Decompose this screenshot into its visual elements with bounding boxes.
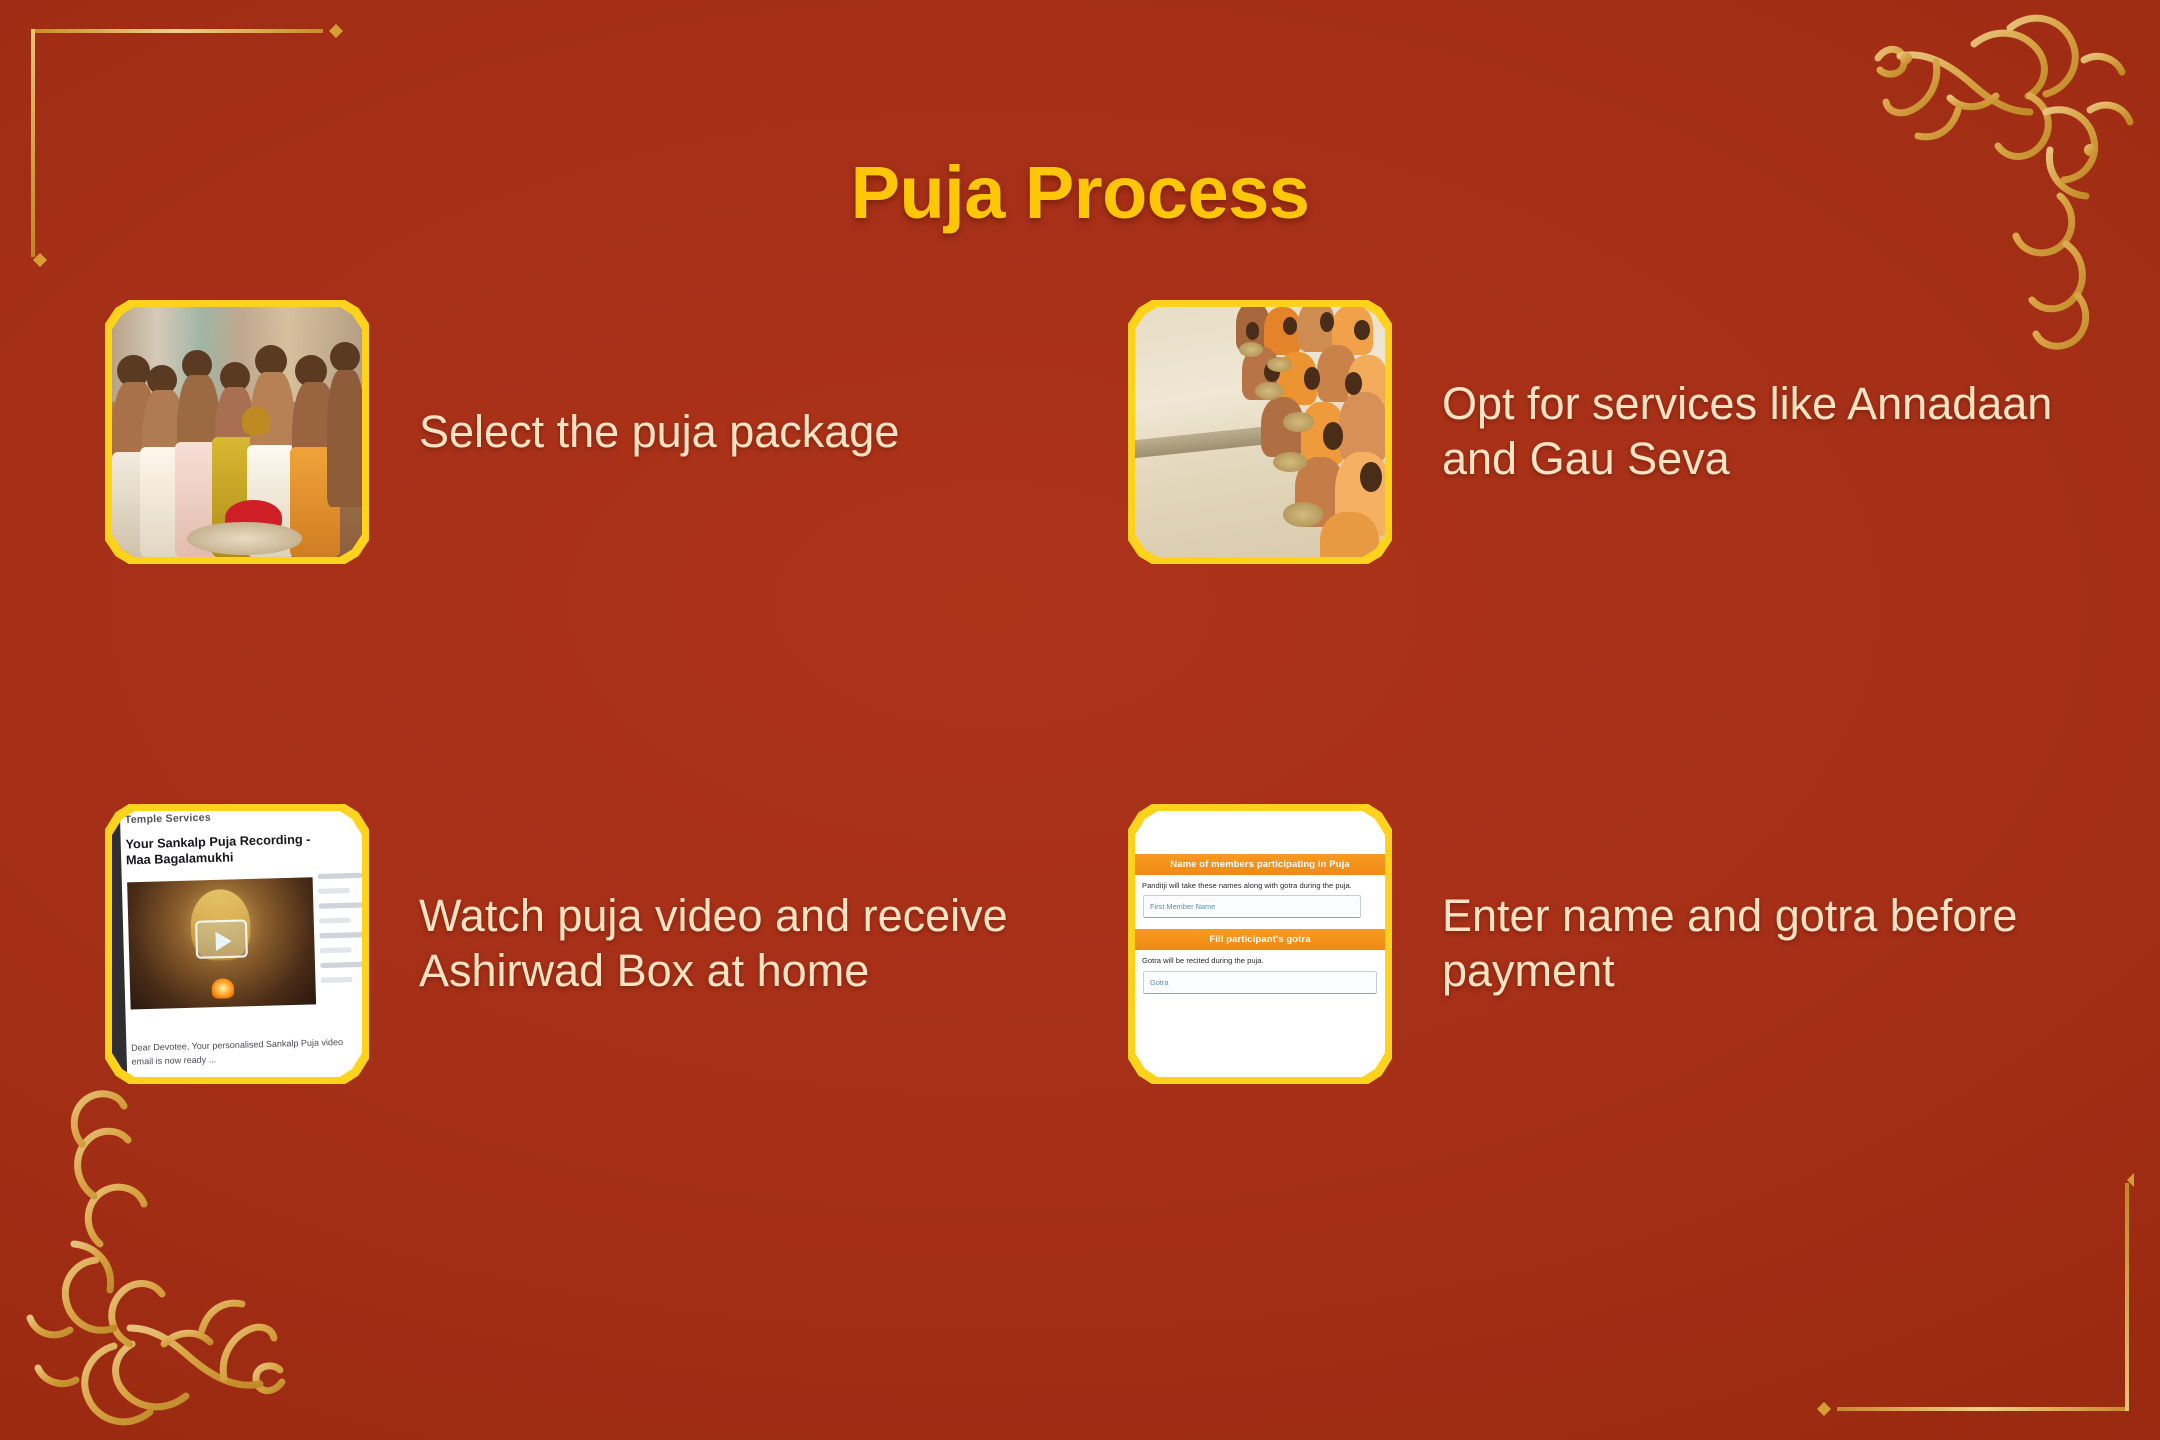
step-caption: Select the puja package [419, 405, 899, 460]
step-enter-name-gotra[interactable]: Name of members participating in Puja Pa… [1080, 804, 2055, 1084]
corner-frame-bottom-right-icon [1804, 1148, 2134, 1418]
step-opt-services[interactable]: Opt for services like Annadaan and Gau S… [1080, 300, 2055, 564]
step-watch-video[interactable]: Temple Services Your Sankalp Puja Record… [105, 804, 1080, 1084]
corner-filigree-bottom-left-icon [0, 1080, 400, 1440]
thumbnail-puja-ritual-photo[interactable] [105, 300, 369, 564]
gotra-input[interactable]: Gotra [1143, 971, 1377, 994]
gotra-form-screenshot: Name of members participating in Puja Pa… [1135, 811, 1385, 1077]
step-caption: Enter name and gotra before payment [1442, 889, 2055, 999]
step-caption: Watch puja video and receive Ashirwad Bo… [419, 889, 1059, 999]
email-brand: Temple Services [125, 812, 211, 826]
puja-ritual-illustration [112, 307, 362, 557]
step-select-package[interactable]: Select the puja package [105, 300, 1080, 564]
form-section-two-hint: Gotra will be recited during the puja. [1135, 950, 1385, 971]
steps-grid: Select the puja package [0, 300, 2160, 1084]
thumbnail-annadaan-hall-photo[interactable] [1128, 300, 1392, 564]
play-icon[interactable] [194, 919, 247, 958]
form-section-one-title: Name of members participating in Puja [1135, 854, 1385, 875]
form-section-two-title: Fill participant's gotra [1135, 929, 1385, 950]
thumbnail-sankalp-recording-email[interactable]: Temple Services Your Sankalp Puja Record… [105, 804, 369, 1084]
annadaan-hall-illustration [1135, 307, 1385, 557]
thumbnail-gotra-form-screenshot[interactable]: Name of members participating in Puja Pa… [1128, 804, 1392, 1084]
email-side-blocks [317, 873, 362, 1010]
email-screenshot: Temple Services Your Sankalp Puja Record… [112, 811, 362, 1077]
member-name-input[interactable]: First Member Name [1143, 895, 1361, 918]
email-subject: Your Sankalp Puja Recording - Maa Bagala… [125, 832, 317, 869]
page-title: Puja Process [0, 150, 2160, 235]
email-body: Dear Devotee, Your personalised Sankalp … [131, 1035, 344, 1068]
step-caption: Opt for services like Annadaan and Gau S… [1442, 377, 2055, 487]
form-section-one-hint: Panditji will take these names along wit… [1135, 875, 1385, 896]
video-preview[interactable] [127, 877, 316, 1009]
